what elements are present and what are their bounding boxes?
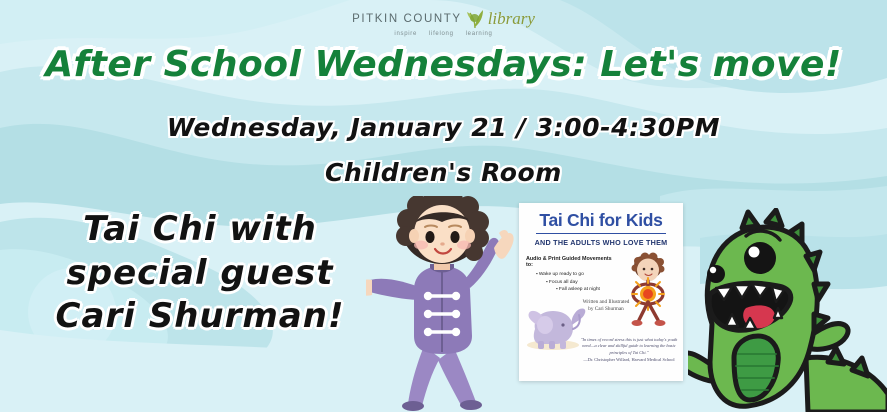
book-title-rule [536, 233, 666, 234]
book-title: Tai Chi for Kids [519, 210, 683, 231]
book-bullet-1: Wake up ready to go [526, 271, 618, 277]
book-bullet-list: Audio & Print Guided Movements to: Wake … [526, 256, 618, 294]
event-location: Children's Room [0, 158, 887, 187]
event-poster: PITKIN COUNTY library inspire lifelong l… [0, 0, 887, 412]
description-line-1: Tai Chi with [14, 208, 386, 252]
book-blurb-attribution: —Dr. Christopher Willard, Harvard Medica… [579, 357, 679, 363]
book-blurb: "In times of record stress this is just … [579, 337, 679, 364]
book-cover-figure-illustration [617, 252, 679, 336]
green-dinosaur-illustration [688, 208, 887, 412]
description-line-3: Cari Shurman! [14, 295, 386, 339]
event-description: Tai Chi with special guest Cari Shurman! [14, 208, 386, 339]
description-line-2: special guest [14, 252, 386, 296]
book-elephant-illustration [523, 303, 587, 355]
book-bullet-3: Fall asleep at night [526, 286, 618, 292]
tai-chi-child-illustration [366, 196, 526, 412]
book-cover: Tai Chi for Kids AND THE ADULTS WHO LOVE… [519, 203, 683, 381]
book-blurb-text: "In times of record stress this is just … [581, 337, 678, 355]
book-bullet-2: Focus all day [526, 279, 618, 285]
book-subtitle: AND THE ADULTS WHO LOVE THEM [519, 238, 683, 247]
event-datetime: Wednesday, January 21 / 3:00-4:30PM [0, 113, 887, 142]
book-bullets-header: Audio & Print Guided Movements to: [526, 256, 618, 268]
page-title: After School Wednesdays: Let's move! [0, 44, 887, 85]
